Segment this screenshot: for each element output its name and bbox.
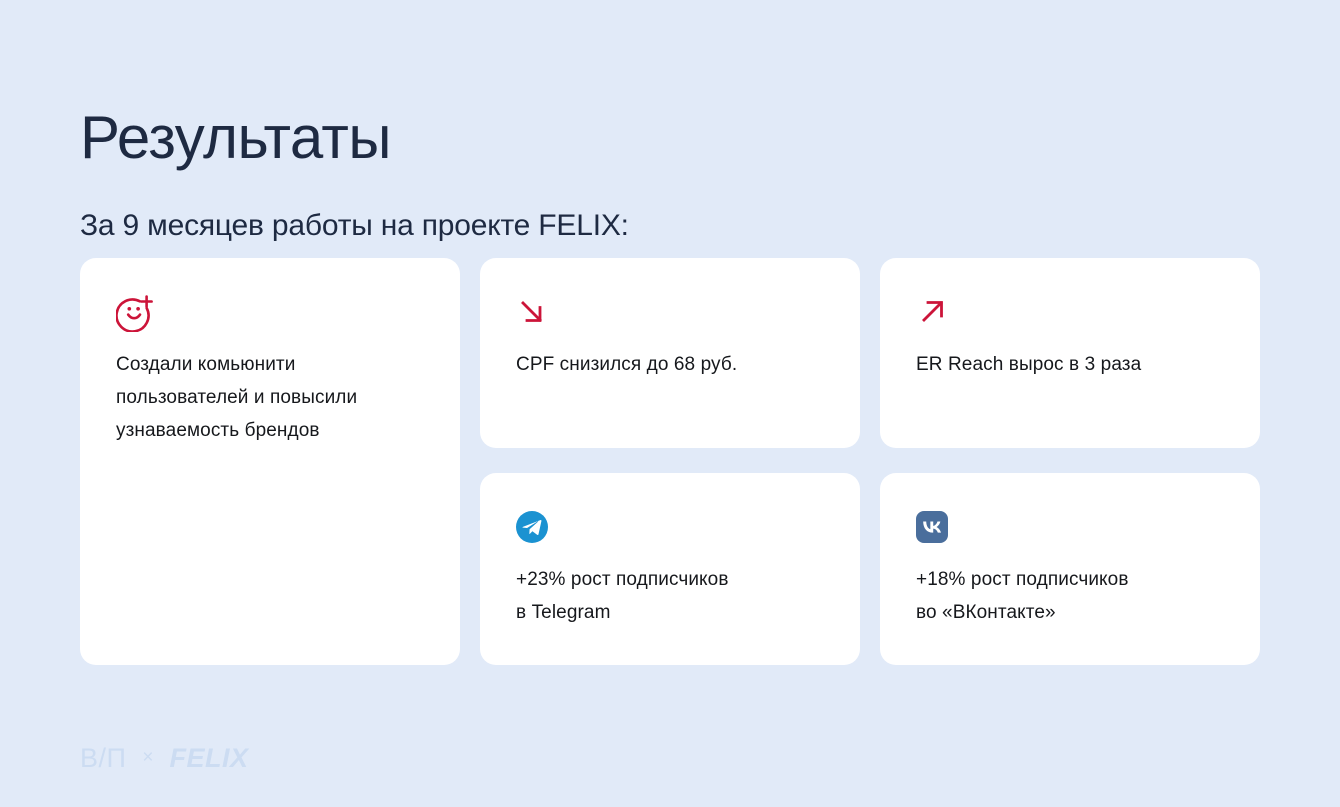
arrow-up-right-icon bbox=[916, 292, 1224, 332]
result-card-text: Создали комьюнити пользователей и повыси… bbox=[116, 348, 424, 447]
results-card-grid: Создали комьюнити пользователей и повыси… bbox=[80, 258, 1260, 665]
result-card-community: Создали комьюнити пользователей и повыси… bbox=[80, 258, 460, 665]
result-card-text: CPF снизился до 68 руб. bbox=[516, 348, 824, 381]
slide-canvas: Результаты За 9 месяцев работы на проект… bbox=[0, 0, 1340, 807]
result-card-vk: +18% рост подписчиков во «ВКонтакте» bbox=[880, 473, 1260, 665]
result-card-text: ER Reach вырос в 3 раза bbox=[916, 348, 1224, 381]
page-title: Результаты bbox=[80, 102, 391, 174]
agency-logo: В/П bbox=[80, 742, 126, 774]
footer-logos: В/П × FELIX bbox=[80, 740, 249, 776]
logo-separator-icon: × bbox=[142, 742, 153, 774]
result-card-text: +23% рост подписчиков в Telegram bbox=[516, 563, 824, 629]
client-logo: FELIX bbox=[170, 742, 249, 774]
page-subtitle: За 9 месяцев работы на проекте FELIX: bbox=[80, 206, 629, 246]
result-card-telegram: +23% рост подписчиков в Telegram bbox=[480, 473, 860, 665]
vk-icon bbox=[916, 507, 1224, 547]
result-card-er-reach: ER Reach вырос в 3 раза bbox=[880, 258, 1260, 448]
telegram-icon bbox=[516, 507, 824, 547]
arrow-down-right-icon bbox=[516, 292, 824, 332]
smiley-plus-icon bbox=[116, 292, 424, 332]
result-card-cpf: CPF снизился до 68 руб. bbox=[480, 258, 860, 448]
result-card-text: +18% рост подписчиков во «ВКонтакте» bbox=[916, 563, 1224, 629]
